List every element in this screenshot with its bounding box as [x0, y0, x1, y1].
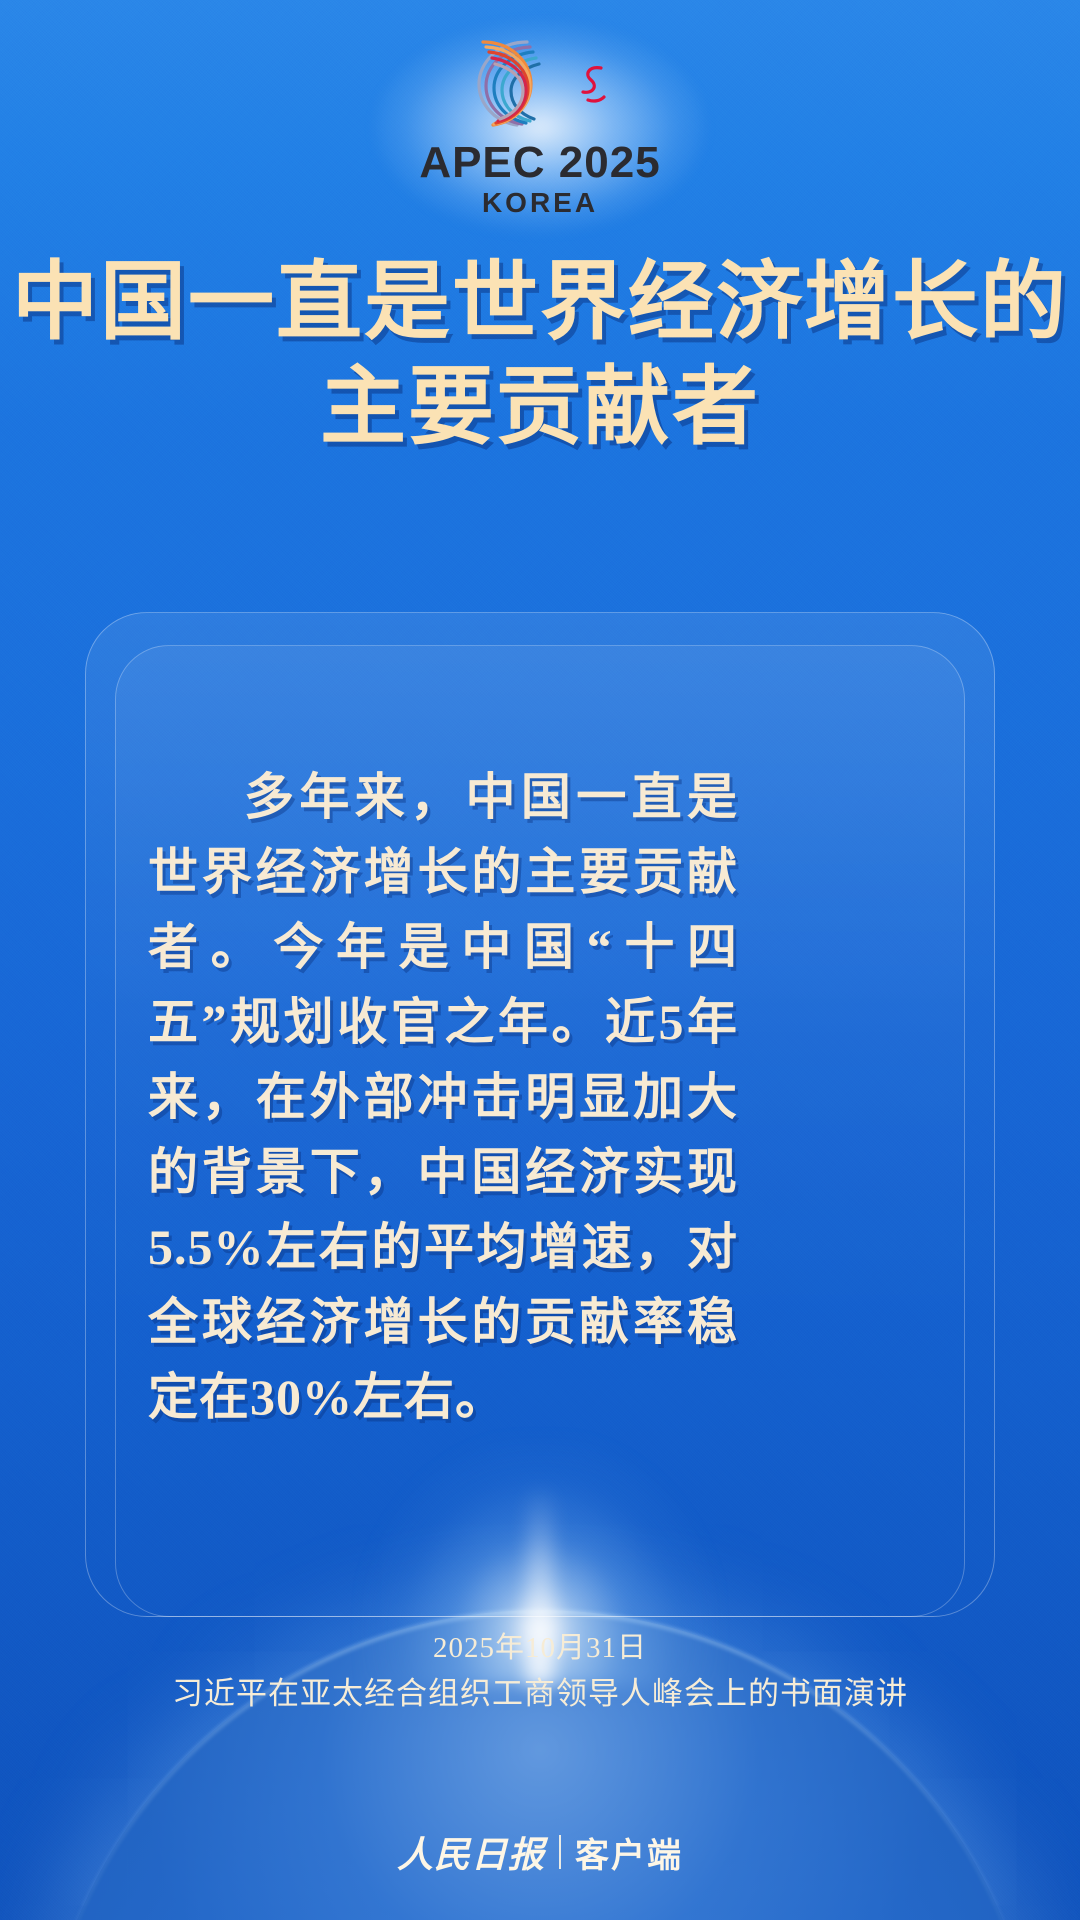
- footer-divider: [559, 1835, 561, 1869]
- attribution-source: 习近平在亚太经合组织工商领导人峰会上的书面演讲: [0, 1670, 1080, 1717]
- apec-logo-block: APEC 2025 KOREA: [0, 28, 1080, 219]
- quote-paragraph: 多年来，中国一直是世界经济增长的主要贡献者。今年是中国“十四五”规划收官之年。近…: [148, 760, 738, 1435]
- page-title: 中国一直是世界经济增长的 主要贡献者: [0, 250, 1080, 460]
- logo-subtitle: KOREA: [0, 187, 1080, 219]
- logo-title: APEC 2025: [0, 140, 1080, 186]
- apec-korea-2025-emblem-icon: [455, 28, 625, 136]
- footer-brand-block: 人民日报 客户端: [0, 1826, 1080, 1878]
- poster-canvas: APEC 2025 KOREA 中国一直是世界经济增长的 主要贡献者 多年来，中…: [0, 0, 1080, 1920]
- attribution-date: 2025年10月31日: [0, 1626, 1080, 1670]
- publisher-product-label: 客户端: [575, 1828, 683, 1877]
- publisher-logo: 人民日报: [397, 1826, 545, 1878]
- attribution-block: 2025年10月31日 习近平在亚太经合组织工商领导人峰会上的书面演讲: [0, 1626, 1080, 1717]
